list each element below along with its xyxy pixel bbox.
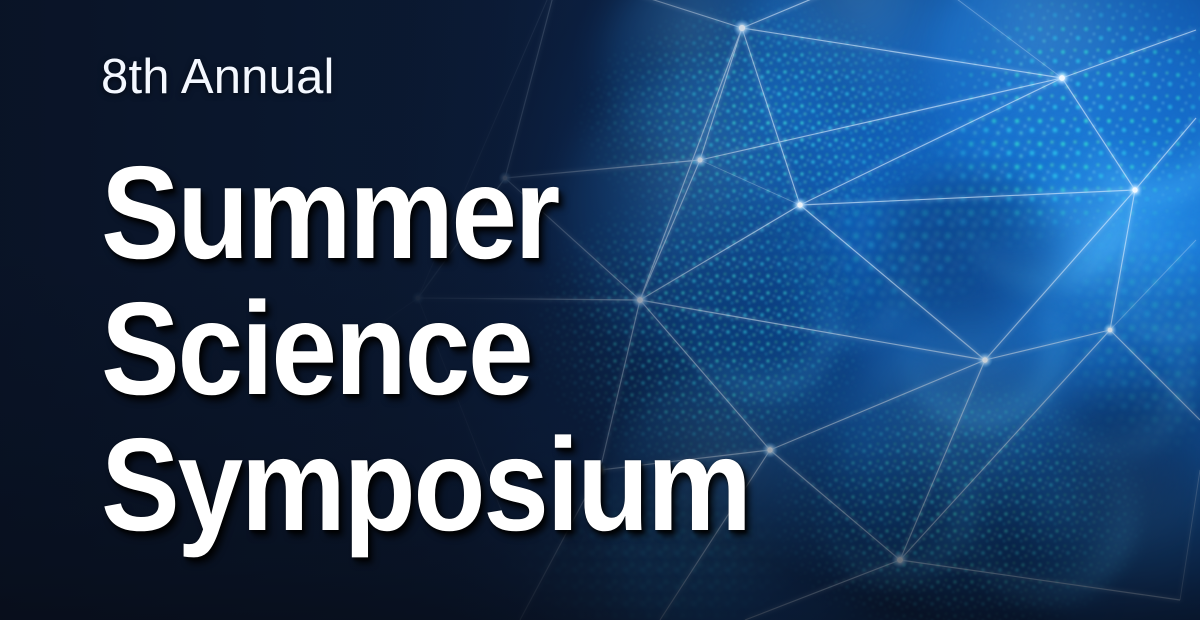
eyebrow-text: 8th Annual	[101, 53, 335, 102]
headline-line-3: Symposium	[101, 424, 826, 547]
headline-line-1: Summer	[101, 152, 611, 275]
headline-line-3-text: Symposium	[101, 424, 750, 547]
headline-line-2: Science	[101, 288, 582, 411]
symposium-banner: 8th Annual Summer Science Symposium	[0, 0, 1200, 620]
headline-line-2-text: Science	[101, 288, 531, 411]
banner-content: 8th Annual Summer Science Symposium	[0, 0, 1200, 620]
headline-line-1-text: Summer	[101, 152, 558, 275]
